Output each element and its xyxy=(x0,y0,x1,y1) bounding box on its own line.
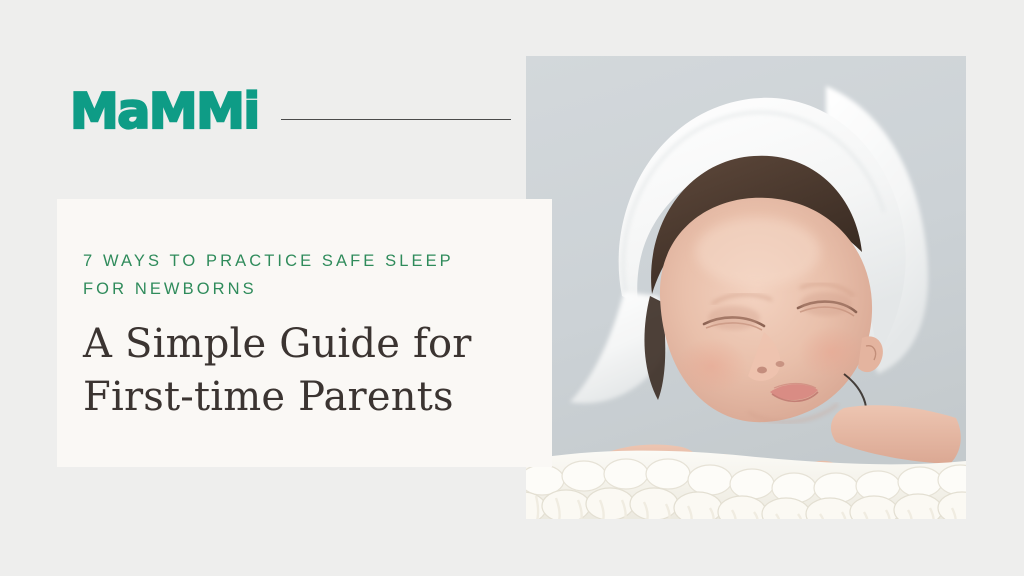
headline-line-2: First-time Parents xyxy=(83,371,508,425)
newborn-photo xyxy=(526,56,966,519)
newborn-photo-illustration xyxy=(526,56,966,519)
banner-canvas: MaMMi 7 WAYS TO PRACTICE SAFE SLEEP FOR … xyxy=(0,0,1024,576)
page-title: A Simple Guide for First-time Parents xyxy=(83,318,508,425)
brand-logo[interactable]: MaMMi xyxy=(70,80,530,142)
eyebrow-text: 7 WAYS TO PRACTICE SAFE SLEEP FOR NEWBOR… xyxy=(83,247,503,304)
logo-divider-line xyxy=(281,119,511,120)
headline-line-1: A Simple Guide for xyxy=(83,318,508,372)
title-card: 7 WAYS TO PRACTICE SAFE SLEEP FOR NEWBOR… xyxy=(57,199,552,467)
brand-logo-text: MaMMi xyxy=(70,87,259,136)
